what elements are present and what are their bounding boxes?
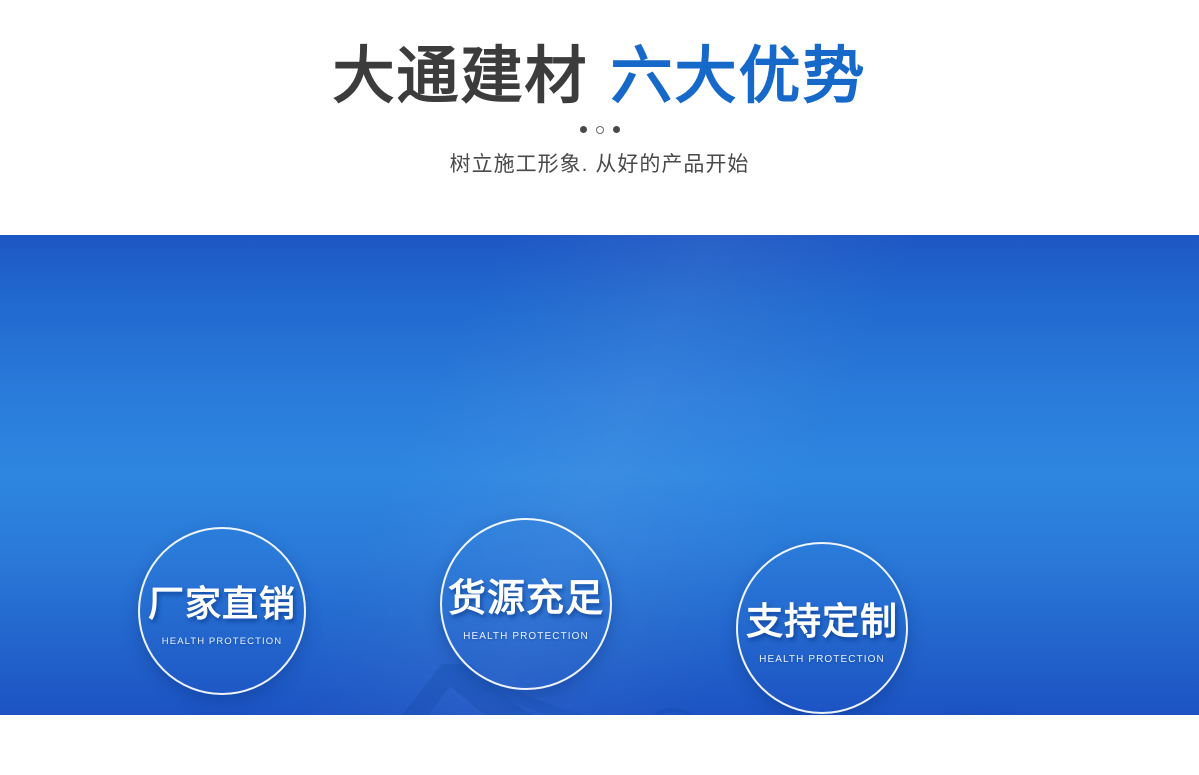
footer-spacer [0,715,1199,775]
decorative-dots [580,125,620,135]
feature-subtitle: HEALTH PROTECTION [759,654,885,665]
page-subtitle: 树立施工形象. 从好的产品开始 [450,148,750,178]
registered-trademark-icon: R [642,708,704,715]
feature-title: 厂家直销 [148,575,296,627]
feature-title: 货源充足 [448,567,604,622]
page-title-brand: 大通建材 [332,44,588,111]
features-panel: R 大通建材 DATONG CONSTRUCTION MATERIAL 厂家直销… [0,235,1199,715]
feature-subtitle: HEALTH PROTECTION [463,631,589,642]
dot-hollow-center [596,126,604,134]
promo-banner: 大通建材 六大优势 树立施工形象. 从好的产品开始 R 大通建材 DATONG … [0,0,1199,775]
feature-circle-changjia-zhixiao[interactable]: 厂家直销 HEALTH PROTECTION [138,527,306,695]
feature-title: 支持定制 [746,591,898,645]
page-title: 大通建材 六大优势 [332,44,866,111]
feature-circle-zhichi-dingzhi[interactable]: 支持定制 HEALTH PROTECTION [736,542,908,714]
feature-subtitle: HEALTH PROTECTION [162,636,282,647]
page-title-highlight: 六大优势 [611,44,867,111]
dot-filled-right [613,126,620,133]
header-section: 大通建材 六大优势 树立施工形象. 从好的产品开始 [0,0,1199,235]
feature-circle-huoyuan-chongzu[interactable]: 货源充足 HEALTH PROTECTION [440,518,612,690]
dot-filled-left [580,126,587,133]
